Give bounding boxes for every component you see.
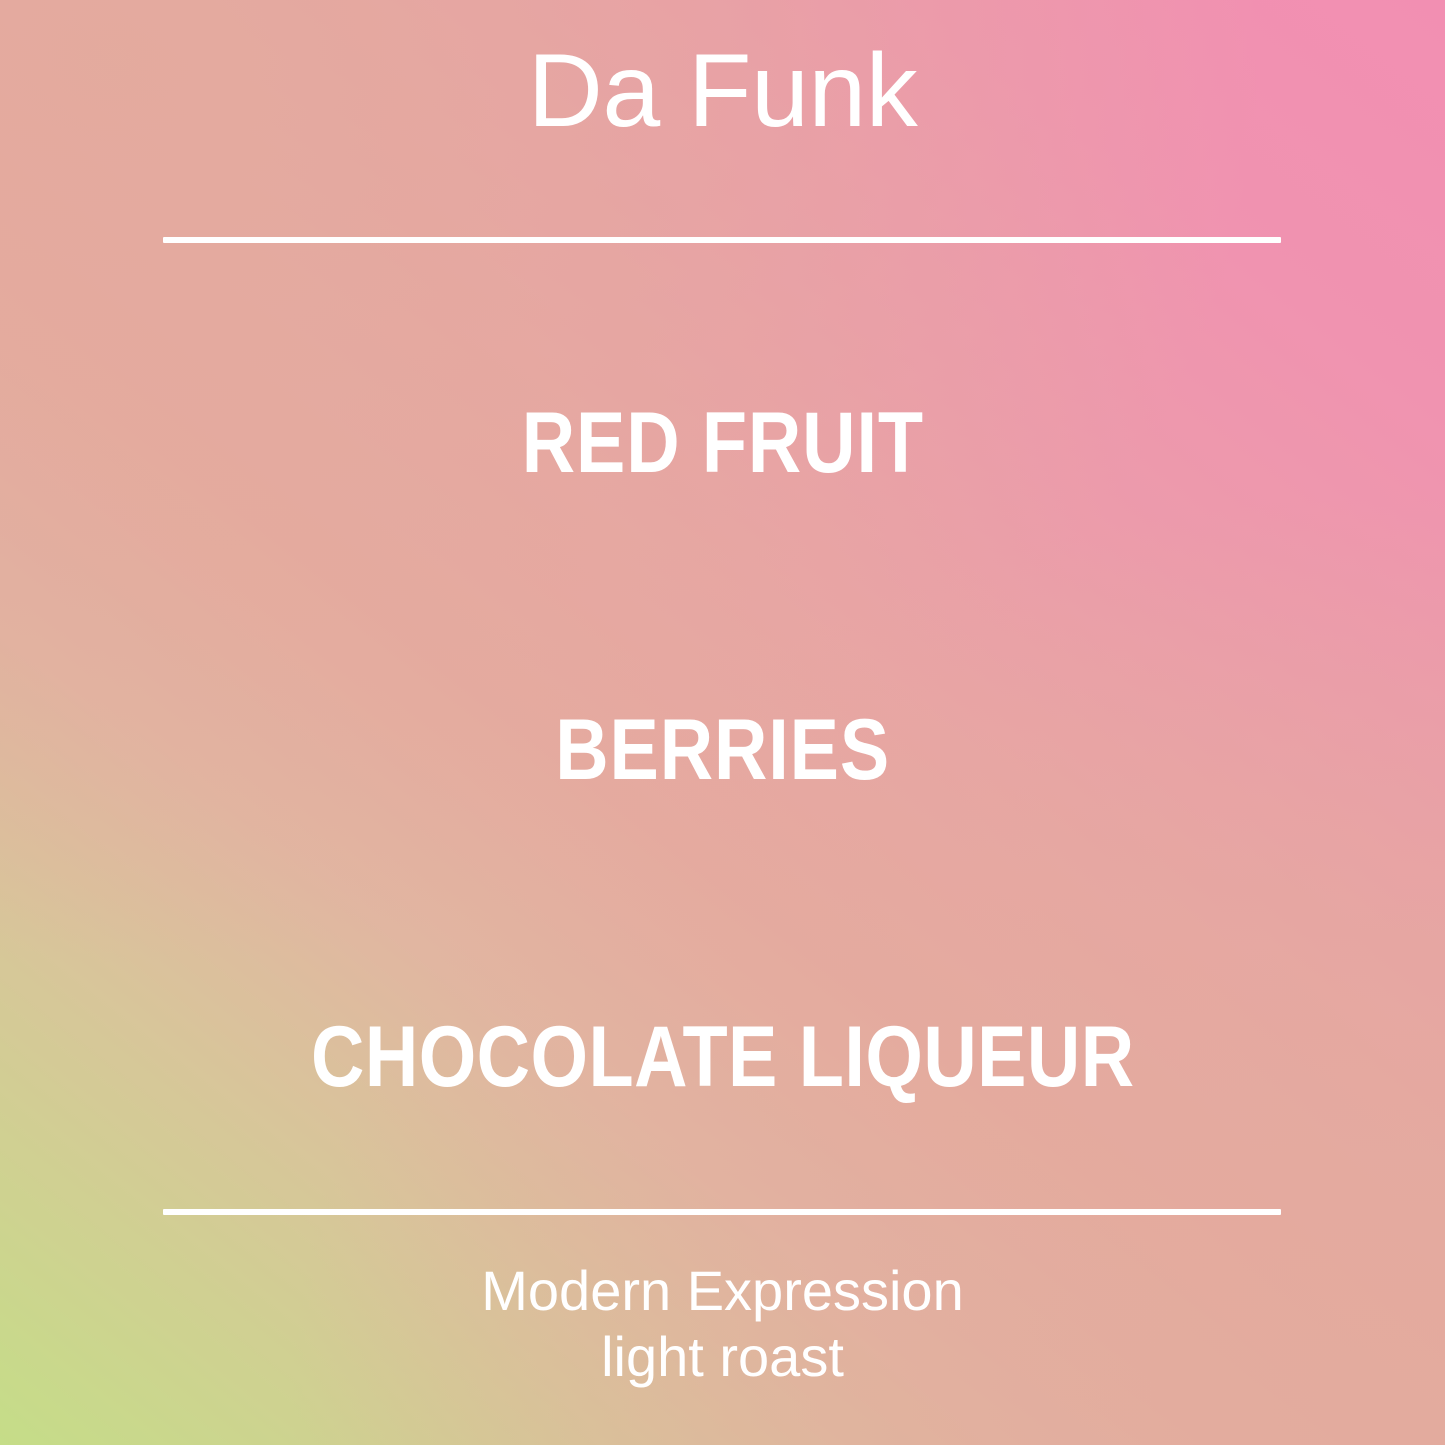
- coffee-label-card: Da Funk RED FRUIT BERRIES CHOCOLATE LIQU…: [0, 0, 1445, 1445]
- flavor-notes-list: RED FRUIT BERRIES CHOCOLATE LIQUEUR: [0, 400, 1445, 1100]
- flavor-note-berries: BERRIES: [555, 707, 890, 793]
- footer-roast-level-label: light roast: [0, 1324, 1445, 1390]
- divider-bottom: [163, 1209, 1281, 1215]
- divider-top: [163, 237, 1281, 243]
- page-title: Da Funk: [0, 37, 1445, 146]
- footer-expression-label: Modern Expression: [0, 1258, 1445, 1324]
- flavor-note-red-fruit: RED FRUIT: [521, 400, 923, 486]
- card-content: Da Funk RED FRUIT BERRIES CHOCOLATE LIQU…: [0, 0, 1445, 1445]
- flavor-note-chocolate-liqueur: CHOCOLATE LIQUEUR: [311, 1014, 1135, 1100]
- footer-block: Modern Expression light roast: [0, 1258, 1445, 1390]
